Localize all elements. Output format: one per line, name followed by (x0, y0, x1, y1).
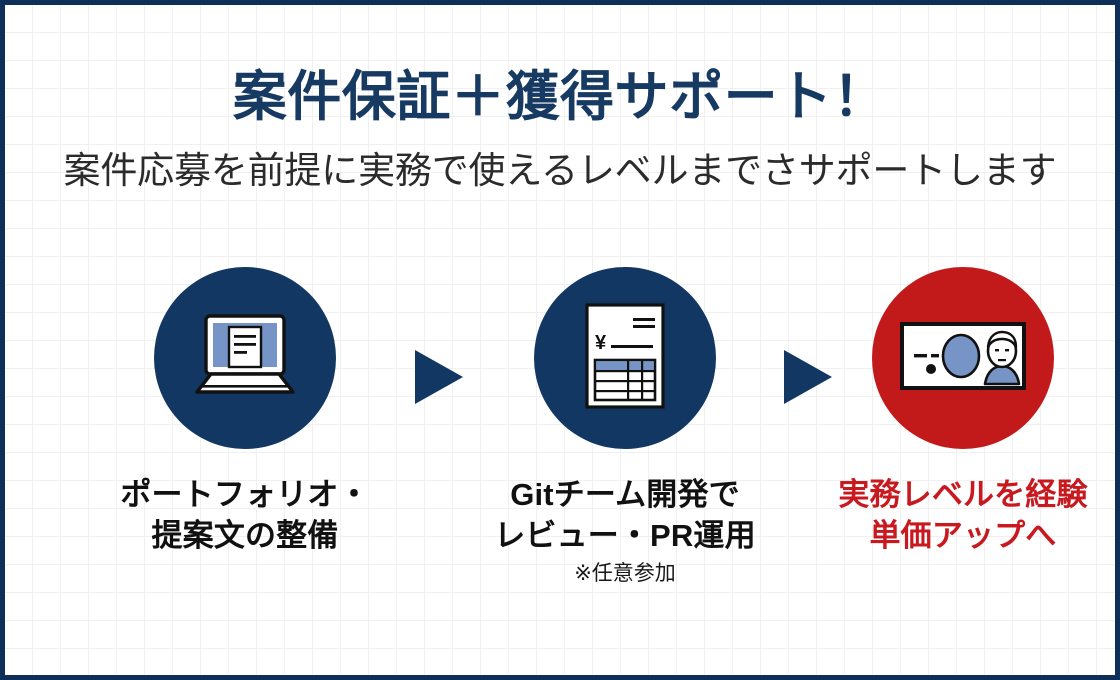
step-3-circle (872, 267, 1054, 449)
step-1-caption-line2: 提案文の整備 (95, 516, 395, 557)
arrow-right-icon-1 (415, 350, 463, 404)
step-1-caption-line1: ポートフォリオ・ (95, 475, 395, 516)
step-3-caption-line1: 実務レベルを経験 (813, 475, 1113, 516)
heading-block: 案件保証＋獲得サポート！ 案件応募を前提に実務で使えるレベルまでさサポートします (5, 67, 1115, 194)
step-2-caption: Gitチーム開発で レビュー・PR運用 (475, 475, 775, 557)
step-item-2: ¥ (475, 267, 775, 586)
step-1-caption: ポートフォリオ・ 提案文の整備 (95, 475, 395, 557)
step-2-caption-note: ※任意参加 (475, 561, 775, 586)
svg-text:¥: ¥ (595, 332, 607, 354)
step-2-circle: ¥ (534, 267, 716, 449)
step-item-1: ポートフォリオ・ 提案文の整備 (95, 267, 395, 557)
laptop-document-icon (189, 310, 301, 407)
infographic-poster: 案件保証＋獲得サポート！ 案件応募を前提に実務で使えるレベルまでさサポートします (0, 0, 1120, 680)
banknote-portrait-icon (899, 321, 1027, 396)
steps-row: ポートフォリオ・ 提案文の整備 ¥ (5, 267, 1115, 647)
step-2-caption-line1: Gitチーム開発で (475, 475, 775, 516)
page-subtitle: 案件応募を前提に実務で使えるレベルまでさサポートします (5, 149, 1115, 193)
step-1-circle (154, 267, 336, 449)
invoice-yen-icon: ¥ (583, 302, 667, 415)
step-3-caption-line2: 単価アップへ (813, 516, 1113, 557)
step-3-caption: 実務レベルを経験 単価アップへ (813, 475, 1113, 557)
step-item-3: 実務レベルを経験 単価アップへ (813, 267, 1113, 557)
page-title: 案件保証＋獲得サポート！ (5, 67, 1115, 127)
step-2-caption-line2: レビュー・PR運用 (475, 516, 775, 557)
